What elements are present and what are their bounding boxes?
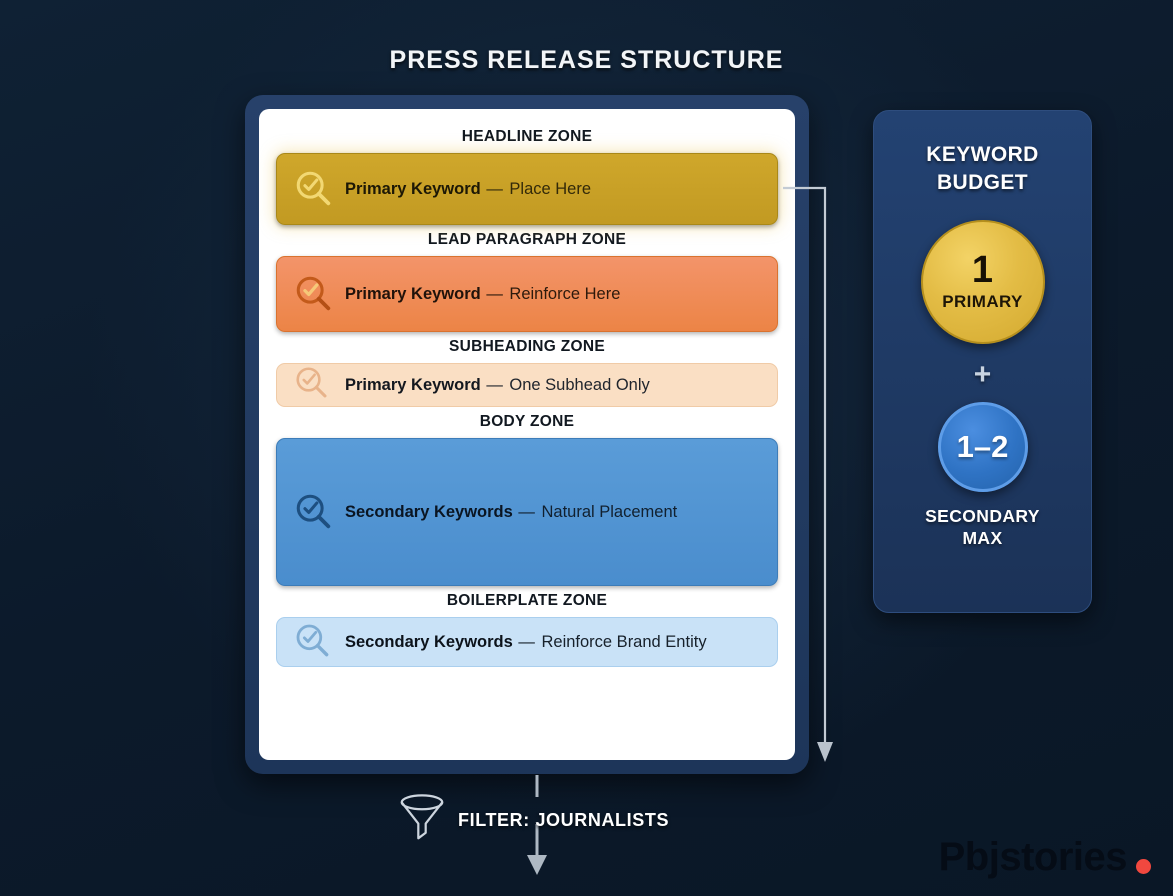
secondary-count-label-line2: MAX [925, 527, 1040, 550]
zone-text-body: Secondary Keywords — Natural Placement [345, 503, 677, 522]
secondary-count-label-line1: SECONDARY [925, 505, 1040, 528]
zone-dash-headline: — [481, 180, 510, 198]
filter-row: FILTER: JOURNALISTS [398, 792, 669, 849]
zone-dash-body: — [513, 503, 542, 521]
zone-dash-lead: — [481, 285, 510, 303]
magnifier-check-icon [293, 491, 335, 533]
brand-logo: Pbjstories [939, 835, 1151, 880]
keyword-budget-title-line1: KEYWORD [926, 141, 1038, 169]
zone-detail-body: Natural Placement [541, 503, 677, 521]
zone-text-lead: Primary Keyword — Reinforce Here [345, 285, 620, 304]
zone-bar-lead[interactable]: Primary Keyword — Reinforce Here [276, 256, 778, 332]
zone-detail-subheading: One Subhead Only [509, 376, 649, 394]
zone-keyword-lead: Primary Keyword [345, 285, 481, 303]
keyword-budget-panel: KEYWORD BUDGET 1 PRIMARY + 1–2 SECONDARY… [873, 110, 1092, 613]
filter-label: FILTER: JOURNALISTS [458, 810, 669, 831]
plus-operator: + [974, 358, 992, 392]
zone-keyword-headline: Primary Keyword [345, 180, 481, 198]
filter-connector-arrowhead [527, 855, 547, 875]
zone-detail-boilerplate: Reinforce Brand Entity [541, 633, 706, 651]
brand-logo-dot [1136, 859, 1151, 874]
zone-keyword-subheading: Primary Keyword [345, 376, 481, 394]
zone-detail-headline: Place Here [509, 180, 591, 198]
zone-text-subheading: Primary Keyword — One Subhead Only [345, 376, 650, 395]
funnel-icon [398, 792, 446, 849]
structure-card-inner: HEADLINE ZONE Primary Keyword — Place He… [259, 109, 795, 760]
keyword-budget-title: KEYWORD BUDGET [926, 141, 1038, 198]
zone-label-headline: HEADLINE ZONE [276, 128, 778, 146]
zone-label-lead: LEAD PARAGRAPH ZONE [276, 231, 778, 249]
zone-keyword-boilerplate: Secondary Keywords [345, 633, 513, 651]
press-release-structure-card: HEADLINE ZONE Primary Keyword — Place He… [245, 95, 809, 774]
magnifier-check-icon [293, 364, 335, 406]
zone-text-boilerplate: Secondary Keywords — Reinforce Brand Ent… [345, 633, 707, 652]
primary-keyword-count-badge: 1 PRIMARY [921, 220, 1045, 344]
headline-connector-arrowhead [817, 742, 833, 762]
zone-bar-body[interactable]: Secondary Keywords — Natural Placement [276, 438, 778, 586]
primary-count-value: 1 [972, 251, 993, 289]
page-title: PRESS RELEASE STRUCTURE [0, 46, 1173, 75]
zone-text-headline: Primary Keyword — Place Here [345, 180, 591, 199]
magnifier-check-icon [293, 168, 335, 210]
zone-bar-headline[interactable]: Primary Keyword — Place Here [276, 153, 778, 225]
magnifier-check-icon [293, 273, 335, 315]
zone-detail-lead: Reinforce Here [509, 285, 620, 303]
magnifier-check-icon [293, 621, 335, 663]
zone-label-boilerplate: BOILERPLATE ZONE [276, 592, 778, 610]
zone-dash-boilerplate: — [513, 633, 542, 651]
zone-bar-boilerplate[interactable]: Secondary Keywords — Reinforce Brand Ent… [276, 617, 778, 667]
zone-label-body: BODY ZONE [276, 413, 778, 431]
secondary-count-label: SECONDARY MAX [925, 505, 1040, 551]
brand-logo-text: Pbjstories [939, 835, 1127, 880]
zone-keyword-body: Secondary Keywords [345, 503, 513, 521]
primary-count-label: PRIMARY [942, 292, 1023, 312]
zone-label-subheading: SUBHEADING ZONE [276, 338, 778, 356]
zone-bar-subheading[interactable]: Primary Keyword — One Subhead Only [276, 363, 778, 407]
zone-dash-subheading: — [481, 376, 510, 394]
secondary-keyword-count-badge: 1–2 [938, 402, 1028, 492]
secondary-count-value: 1–2 [957, 431, 1009, 462]
keyword-budget-title-line2: BUDGET [926, 169, 1038, 197]
